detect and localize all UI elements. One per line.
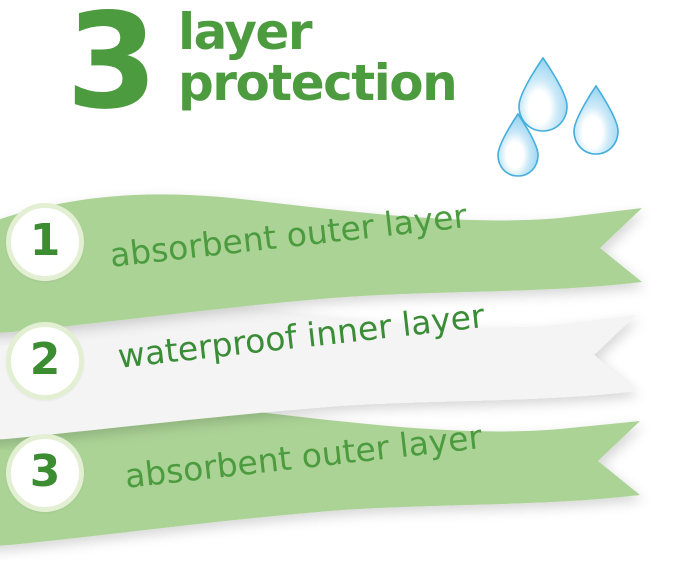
layer-badge-1[interactable]: 1	[6, 203, 84, 281]
droplet-medium-icon	[574, 86, 618, 154]
layer-ribbon-1[interactable]: absorbent outer layer	[0, 170, 679, 345]
layer-badge-2-number: 2	[30, 338, 61, 382]
layer-stack: absorbent outer layer waterproof inner l…	[0, 170, 679, 583]
infographic-canvas: 3 layer protection	[0, 0, 679, 583]
droplet-large-icon	[519, 58, 567, 131]
layer-badge-1-number: 1	[30, 219, 61, 263]
title-line-protection: protection	[178, 59, 456, 108]
title-line-layer: layer	[178, 8, 456, 57]
title-big-number: 3	[66, 0, 154, 128]
title-block: 3 layer protection	[0, 0, 520, 160]
layer-badge-2[interactable]: 2	[6, 322, 84, 400]
title-words: layer protection	[178, 8, 456, 108]
layer-badge-3[interactable]: 3	[6, 434, 84, 512]
layer-badge-3-number: 3	[30, 450, 61, 494]
ribbon-1-shape	[0, 170, 679, 345]
